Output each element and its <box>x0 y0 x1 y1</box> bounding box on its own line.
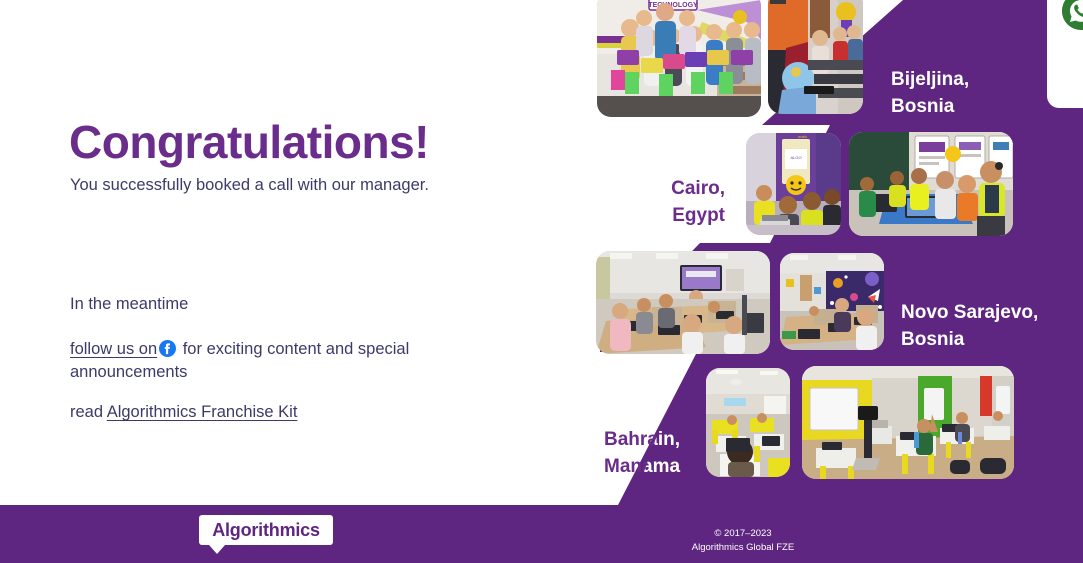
svg-text:ALGO: ALGO <box>790 155 801 160</box>
location-cairo-line1: Cairo, <box>663 176 725 203</box>
page-title: Congratulations! <box>69 118 429 166</box>
franchise-kit-link[interactable]: Algorithmics Franchise Kit <box>107 403 298 421</box>
location-label-bijeljina: Bijeljina, Bosnia <box>891 67 969 121</box>
location-cairo-line2: Egypt <box>663 203 725 230</box>
photo-cairo-small: ALGO math <box>746 133 841 235</box>
congratulations-page: Congratulations! You successfully booked… <box>0 0 1083 563</box>
photo-novo-sarajevo-classroom <box>596 251 770 354</box>
photo-bijeljina-lab <box>768 0 863 114</box>
photo-cairo-large <box>849 132 1013 236</box>
logo-tail-triangle <box>209 545 225 554</box>
algorithmics-logo[interactable]: Algorithmics <box>199 515 333 545</box>
whatsapp-icon[interactable] <box>1062 0 1083 30</box>
photo-bahrain-large <box>802 366 1014 479</box>
copyright-block: © 2017–2023 Algorithmics Global FZE <box>612 527 874 556</box>
location-label-novo-sarajevo: Novo Sarajevo, Bosnia <box>901 300 1038 354</box>
subtitle: You successfully booked a call with our … <box>70 174 460 197</box>
logo-text: Algorithmics <box>212 520 320 541</box>
location-label-bahrain: Bahrain, Manama Bahrain, Manama <box>604 427 714 483</box>
location-novo-sarajevo-line2: Bosnia <box>901 327 1038 354</box>
copyright-company: Algorithmics Global FZE <box>612 541 874 555</box>
read-kit-paragraph: read Algorithmics Franchise Kit <box>70 403 297 422</box>
follow-us-link[interactable]: follow us on <box>70 340 178 358</box>
in-the-meantime-text: In the meantime <box>70 295 188 314</box>
location-bijeljina-line2: Bosnia <box>891 94 969 121</box>
left-content-pane <box>0 0 600 505</box>
photo-novo-sarajevo-space <box>780 253 884 350</box>
photo-bahrain-small <box>706 368 790 477</box>
svg-text:math: math <box>798 134 807 139</box>
follow-us-paragraph: follow us on for exciting content and sp… <box>70 338 490 385</box>
copyright-years: © 2017–2023 <box>612 527 874 541</box>
svg-text:TECHNOLOGY: TECHNOLOGY <box>648 2 698 9</box>
photo-bijeljina-group: TECHNOLOGY <box>597 0 761 117</box>
location-novo-sarajevo-line1: Novo Sarajevo, <box>901 300 1038 327</box>
location-label-cairo: Cairo, Egypt <box>663 176 725 230</box>
page-footer: Algorithmics © 2017–2023 Algorithmics Gl… <box>0 505 1083 563</box>
read-prefix-text: read <box>70 403 107 421</box>
follow-us-label: follow us on <box>70 340 157 358</box>
location-bijeljina-line1: Bijeljina, <box>891 67 969 94</box>
facebook-icon[interactable] <box>159 340 176 357</box>
